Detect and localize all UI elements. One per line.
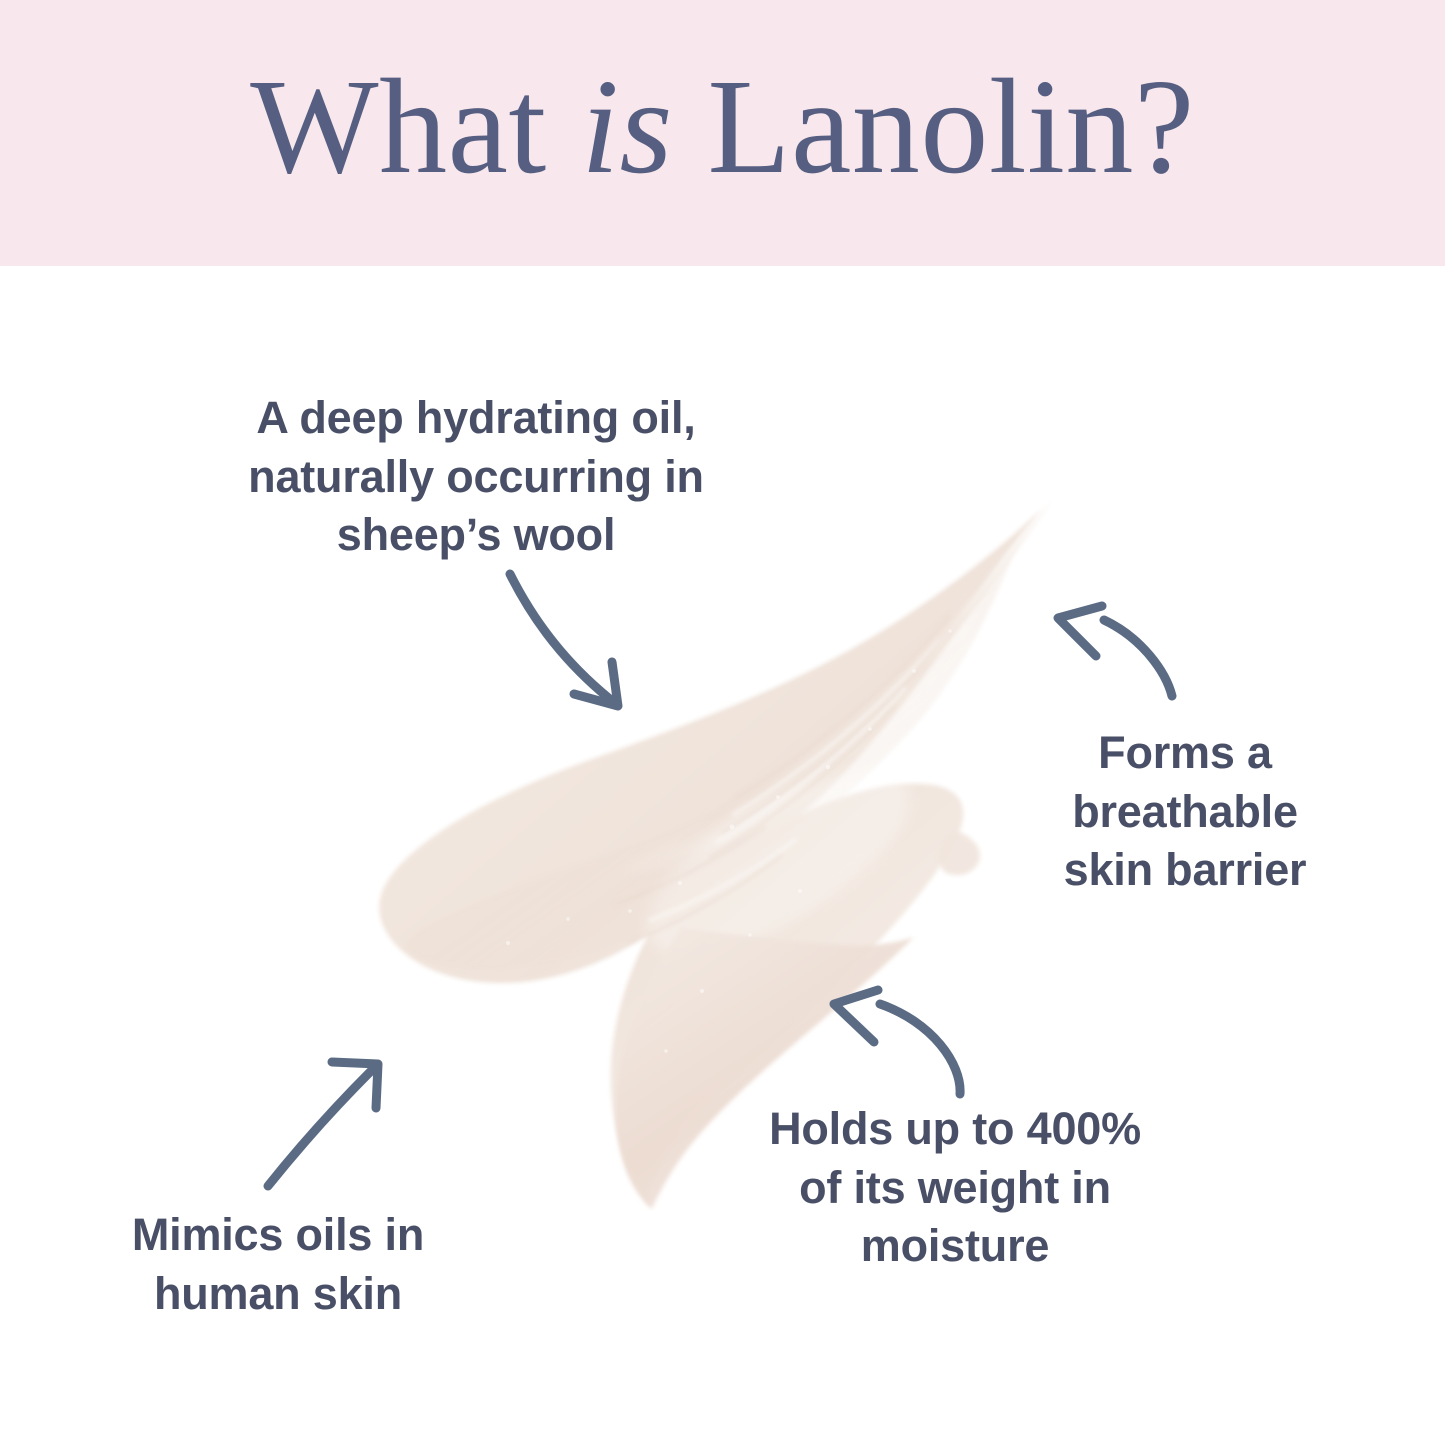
arrow-skin-barrier [1058, 606, 1172, 696]
infographic-page: What is Lanolin? [0, 0, 1445, 1445]
header-band: What is Lanolin? [0, 0, 1445, 266]
label-moisture: Holds up to 400% of its weight in moistu… [700, 1100, 1210, 1276]
page-title: What is Lanolin? [250, 59, 1195, 207]
arrow-hydrating-oil [510, 574, 618, 706]
page-title-part2: Lanolin? [673, 52, 1195, 202]
arrow-moisture [834, 990, 960, 1094]
label-human-skin: Mimics oils in human skin [78, 1206, 478, 1323]
page-title-emphasis: is [581, 52, 673, 202]
label-skin-barrier: Forms a breathable skin barrier [1020, 724, 1350, 900]
label-hydrating-oil: A deep hydrating oil, naturally occurrin… [176, 389, 776, 565]
page-title-part1: What [250, 52, 581, 202]
arrow-human-skin [268, 1062, 378, 1186]
infographic-canvas: A deep hydrating oil, naturally occurrin… [0, 266, 1445, 1445]
